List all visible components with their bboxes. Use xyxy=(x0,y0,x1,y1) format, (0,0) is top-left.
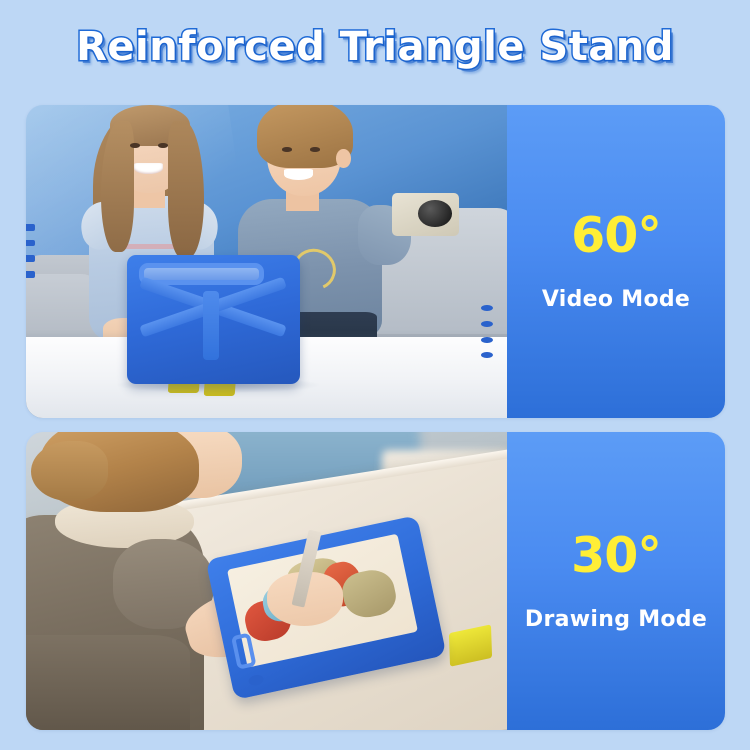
photo-drawing-mode xyxy=(26,432,507,730)
photo1-girl-eye-left xyxy=(130,143,140,148)
photo1-case-button xyxy=(26,255,35,262)
photo1-girl-smile xyxy=(134,163,163,174)
photo1-case-button xyxy=(26,240,35,247)
photo1-case-button xyxy=(26,271,35,278)
photo1-boy-eye-left xyxy=(282,147,292,151)
angle-value-drawing: 30° xyxy=(571,531,661,580)
photo2-girl-skirt xyxy=(26,635,190,730)
page-title: Reinforced Triangle Stand xyxy=(76,24,674,70)
feature-card-video-mode: 60° Video Mode xyxy=(26,105,725,418)
title-bar: Reinforced Triangle Stand xyxy=(0,24,750,70)
product-feature-page: Reinforced Triangle Stand xyxy=(0,0,750,750)
photo1-girl-eye-right xyxy=(158,143,168,148)
photo1-case-button xyxy=(26,224,35,231)
photo1-boy-ear xyxy=(336,149,350,168)
photo1-boy-smile xyxy=(284,169,313,180)
photo1-case-spine xyxy=(203,291,219,360)
feature-card-drawing-mode: 30° Drawing Mode xyxy=(26,432,725,730)
photo2-case-port xyxy=(248,674,265,687)
photo1-camera-lens xyxy=(418,200,452,227)
photo1-boy-eye-right xyxy=(310,147,320,151)
photo1-tablet-case xyxy=(127,255,300,383)
info-panel-video-mode: 60° Video Mode xyxy=(507,105,725,418)
info-panel-drawing-mode: 30° Drawing Mode xyxy=(507,432,725,730)
photo1-case-speaker-hole xyxy=(481,321,493,327)
photo-video-mode xyxy=(26,105,507,418)
photo1-case-speaker-hole xyxy=(481,337,493,343)
mode-label-drawing: Drawing Mode xyxy=(525,607,707,632)
angle-value-video: 60° xyxy=(571,211,661,260)
photo1-case-speaker-hole xyxy=(481,352,493,358)
mode-label-video: Video Mode xyxy=(542,287,690,312)
photo2-girl-hair-curl xyxy=(31,441,108,501)
